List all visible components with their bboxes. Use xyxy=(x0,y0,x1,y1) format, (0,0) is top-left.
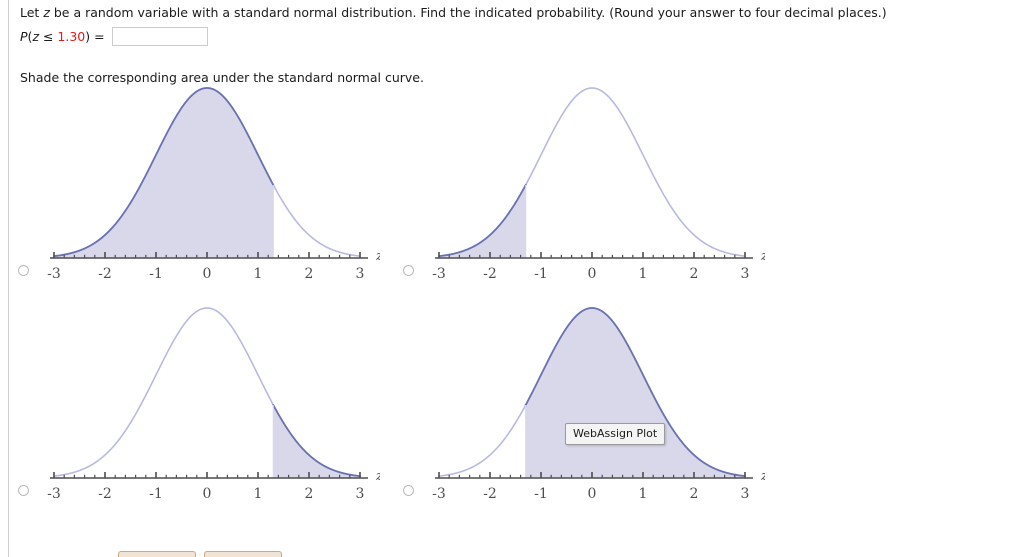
svg-text:z: z xyxy=(760,249,765,264)
choices-row-bottom: -3-2-10123z -3-2-10123z xyxy=(14,300,1014,520)
svg-text:z: z xyxy=(760,469,765,484)
svg-text:0: 0 xyxy=(588,266,597,282)
svg-text:-3: -3 xyxy=(432,486,446,502)
svg-text:2: 2 xyxy=(690,266,699,282)
svg-text:2: 2 xyxy=(690,486,699,502)
svg-text:-2: -2 xyxy=(483,486,497,502)
svg-text:3: 3 xyxy=(356,266,365,282)
svg-text:2: 2 xyxy=(305,486,314,502)
svg-text:2: 2 xyxy=(305,266,314,282)
question-prompt-pre: Let xyxy=(20,5,43,20)
choice-option-c[interactable]: -3-2-10123z xyxy=(14,300,399,520)
plot-choice-d[interactable]: -3-2-10123z xyxy=(413,300,765,515)
svg-text:0: 0 xyxy=(203,486,212,502)
svg-text:1: 1 xyxy=(639,266,648,282)
svg-text:-2: -2 xyxy=(98,486,112,502)
probability-expression: P(z ≤ 1.30) = xyxy=(20,29,105,44)
choices-grid: -3-2-10123z -3-2-10123z -3-2-10123z -3-2… xyxy=(14,80,1014,520)
question-left-border xyxy=(8,0,9,557)
svg-text:3: 3 xyxy=(741,486,750,502)
expression-value: 1.30 xyxy=(57,29,85,44)
question-prompt-post: be a random variable with a standard nor… xyxy=(50,5,887,20)
expression-p: P xyxy=(20,29,28,44)
webassign-plot-tooltip: WebAssign Plot xyxy=(565,423,665,445)
svg-text:-3: -3 xyxy=(47,266,61,282)
svg-text:-2: -2 xyxy=(98,266,112,282)
question-body: Let z be a random variable with a standa… xyxy=(20,0,1010,86)
svg-text:-3: -3 xyxy=(47,486,61,502)
bottom-button-strip xyxy=(118,551,282,557)
choices-row-top: -3-2-10123z -3-2-10123z xyxy=(14,80,1014,300)
svg-text:1: 1 xyxy=(639,486,648,502)
svg-text:-1: -1 xyxy=(149,486,163,502)
svg-text:3: 3 xyxy=(356,486,365,502)
expression-equals: = xyxy=(90,29,104,44)
svg-text:-3: -3 xyxy=(432,266,446,282)
plot-choice-b[interactable]: -3-2-10123z xyxy=(413,80,765,295)
svg-text:z: z xyxy=(375,249,380,264)
plot-choice-c[interactable]: -3-2-10123z xyxy=(28,300,380,515)
svg-text:0: 0 xyxy=(203,266,212,282)
svg-text:-1: -1 xyxy=(534,266,548,282)
answer-input[interactable] xyxy=(112,27,208,46)
bottom-button-1[interactable] xyxy=(118,551,196,557)
svg-text:3: 3 xyxy=(741,266,750,282)
choice-option-a[interactable]: -3-2-10123z xyxy=(14,80,399,300)
expression-relation: ≤ xyxy=(39,29,57,44)
choice-option-b[interactable]: -3-2-10123z xyxy=(399,80,784,300)
svg-text:z: z xyxy=(375,469,380,484)
choice-option-d[interactable]: -3-2-10123z xyxy=(399,300,784,520)
question-page: Let z be a random variable with a standa… xyxy=(0,0,1024,557)
svg-text:-2: -2 xyxy=(483,266,497,282)
svg-text:1: 1 xyxy=(254,486,263,502)
svg-text:0: 0 xyxy=(588,486,597,502)
bottom-button-2[interactable] xyxy=(204,551,282,557)
svg-text:1: 1 xyxy=(254,266,263,282)
question-prompt: Let z be a random variable with a standa… xyxy=(20,5,1010,21)
svg-text:-1: -1 xyxy=(149,266,163,282)
plot-choice-a[interactable]: -3-2-10123z xyxy=(28,80,380,295)
probability-expression-line: P(z ≤ 1.30) = xyxy=(20,25,1010,47)
svg-text:-1: -1 xyxy=(534,486,548,502)
